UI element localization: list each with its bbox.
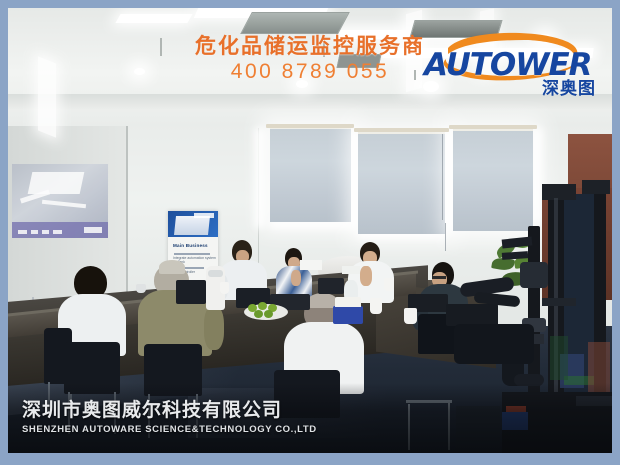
rig-top-flange xyxy=(542,184,576,200)
fruit xyxy=(258,302,267,310)
projection-graphic xyxy=(42,200,86,209)
paper-cup xyxy=(404,308,417,324)
window-glow xyxy=(255,128,265,228)
taskbar-item xyxy=(53,230,62,234)
window-blind xyxy=(270,126,351,222)
taskbar-item xyxy=(31,230,38,234)
wall-corner-seam xyxy=(126,104,128,304)
photograph: Main Business Integrate automation syste… xyxy=(8,8,612,453)
taskbar-item xyxy=(18,230,27,234)
papers xyxy=(300,260,322,270)
papers xyxy=(342,266,360,274)
green-part xyxy=(550,336,568,380)
ceiling-soffit xyxy=(8,94,612,110)
papers xyxy=(136,284,146,293)
logo-chinese-name: 深奥图 xyxy=(542,74,596,99)
eyeglasses-icon xyxy=(432,276,446,279)
person-arm xyxy=(204,306,224,350)
window-glow xyxy=(444,130,453,232)
paper-cup xyxy=(220,282,229,294)
pipe-horizontal xyxy=(542,298,576,306)
taskbar-item xyxy=(42,230,49,234)
air-purifier-vent xyxy=(208,270,223,277)
banner-title: Main Business xyxy=(173,243,208,248)
footer-company-block: 深圳市奥图威尔科技有限公司 SHENZHEN AUTOWARE SCIENCE&… xyxy=(22,395,317,435)
fruit xyxy=(264,310,273,318)
window-blind xyxy=(358,131,445,234)
banner-product-image xyxy=(174,216,210,235)
paper-cup xyxy=(370,298,382,314)
blind-rail xyxy=(354,128,449,132)
pipe-horizontal xyxy=(502,251,528,260)
ceiling-sensor-stem xyxy=(323,43,325,57)
ceiling-ac-vent xyxy=(337,54,382,68)
projection-screen xyxy=(12,164,108,238)
blind-cord xyxy=(442,134,443,220)
person-arm xyxy=(360,266,372,286)
ceiling-sensor-stem xyxy=(414,70,416,80)
autower-logo: AUTOWER 深奥图 xyxy=(420,30,598,92)
ceiling-light-strip xyxy=(38,56,56,137)
company-name-english: SHENZHEN AUTOWARE SCIENCE&TECHNOLOGY CO.… xyxy=(22,424,317,435)
valve-body xyxy=(520,262,548,288)
projection-graphic xyxy=(28,172,85,194)
ceiling-sensor-stem xyxy=(160,38,162,56)
blind-cord xyxy=(445,223,446,251)
blind-rail xyxy=(266,124,354,128)
fruit xyxy=(254,310,263,318)
laptop xyxy=(318,278,344,294)
tissue-box xyxy=(333,306,363,324)
company-name-chinese: 深圳市奥图威尔科技有限公司 xyxy=(22,395,317,422)
banner-header xyxy=(168,211,218,237)
laptop xyxy=(176,280,206,304)
photo-frame: Main Business Integrate automation syste… xyxy=(0,0,620,465)
ceiling-light-strip xyxy=(115,14,192,23)
person-hair xyxy=(159,260,185,274)
tissue-box-top xyxy=(335,297,361,307)
ceiling-downlight xyxy=(296,80,308,88)
blind-rail xyxy=(449,125,537,129)
taskbar-item xyxy=(84,227,102,233)
banner-logo xyxy=(194,213,214,218)
rig-top-flange xyxy=(582,180,610,194)
projection-taskbar xyxy=(12,222,108,238)
equipment-block xyxy=(454,324,534,364)
ceiling-ac-vent xyxy=(240,12,350,34)
laptop xyxy=(446,304,498,326)
ceiling-downlight xyxy=(134,68,145,75)
banner-text-line xyxy=(174,253,210,255)
person-arm xyxy=(291,270,301,286)
paper-cup xyxy=(384,278,394,291)
